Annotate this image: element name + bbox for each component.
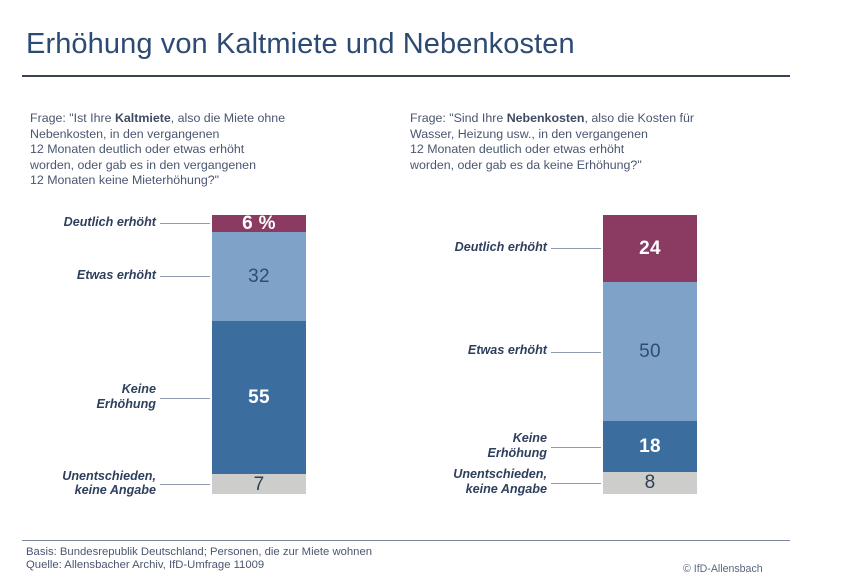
bar-segment-value-kaltmiete-3: 7 [254,475,265,494]
bar-segment-kaltmiete-3: 7 [212,474,306,494]
bar-segment-nebenkosten-1: 50 [603,282,697,422]
footer-divider [22,540,790,541]
leader-line-kaltmiete-0 [160,223,210,224]
bar-segment-kaltmiete-0: 6 % [212,215,306,232]
leader-line-nebenkosten-2 [551,447,601,448]
bar-segment-kaltmiete-1: 32 [212,232,306,321]
bar-segment-value-nebenkosten-2: 18 [639,437,661,456]
stacked-bar-nebenkosten: 2450188 [603,215,697,494]
bar-segment-value-nebenkosten-0: 24 [639,239,661,258]
bar-category-label-nebenkosten-1: Etwas erhöht [357,343,547,358]
leader-line-kaltmiete-3 [160,484,210,485]
question-keyword-nebenkosten: Nebenkosten [507,111,585,125]
bar-segment-value-nebenkosten-3: 8 [645,473,656,492]
question-keyword-kaltmiete: Kaltmiete [115,111,171,125]
leader-line-kaltmiete-1 [160,276,210,277]
footer-source-line: Quelle: Allensbacher Archiv, IfD-Umfrage… [26,559,264,573]
question-lead-nebenkosten: Frage: "Sind Ihre [410,111,507,125]
bar-category-label-nebenkosten-2: Keine Erhöhung [357,431,547,460]
bar-category-label-kaltmiete-0: Deutlich erhöht [0,215,156,230]
bar-category-label-kaltmiete-1: Etwas erhöht [0,268,156,283]
bar-category-label-nebenkosten-0: Deutlich erhöht [357,240,547,255]
stacked-bar-kaltmiete: 6 %32557 [212,215,306,494]
bar-segment-nebenkosten-2: 18 [603,421,697,471]
bar-segment-value-kaltmiete-0: 6 % [242,214,276,233]
bar-segment-kaltmiete-2: 55 [212,321,306,474]
bar-category-label-kaltmiete-3: Unentschieden, keine Angabe [0,469,156,498]
bar-segment-value-kaltmiete-1: 32 [248,267,270,286]
bar-category-label-nebenkosten-3: Unentschieden, keine Angabe [357,467,547,496]
question-text-nebenkosten: Frage: "Sind Ihre Nebenkosten, also die … [410,96,770,173]
stacked-bar-chart-kaltmiete: 6 %32557 [0,215,400,494]
footer-copyright: © IfD-Allensbach [683,563,763,575]
bar-segment-value-kaltmiete-2: 55 [248,388,270,407]
bar-segment-value-nebenkosten-1: 50 [639,342,661,361]
bar-segment-nebenkosten-0: 24 [603,215,697,282]
title-divider [22,75,790,77]
bar-segment-nebenkosten-3: 8 [603,472,697,494]
footer-basis-line: Basis: Bundesrepublik Deutschland; Perso… [26,546,372,560]
page-title: Erhöhung von Kaltmiete und Nebenkosten [26,28,575,61]
bar-category-label-kaltmiete-2: Keine Erhöhung [0,382,156,411]
leader-line-kaltmiete-2 [160,398,210,399]
leader-line-nebenkosten-3 [551,483,601,484]
question-text-kaltmiete: Frage: "Ist Ihre Kaltmiete, also die Mie… [30,96,380,188]
leader-line-nebenkosten-0 [551,248,601,249]
question-lead-kaltmiete: Frage: "Ist Ihre [30,111,115,125]
leader-line-nebenkosten-1 [551,352,601,353]
